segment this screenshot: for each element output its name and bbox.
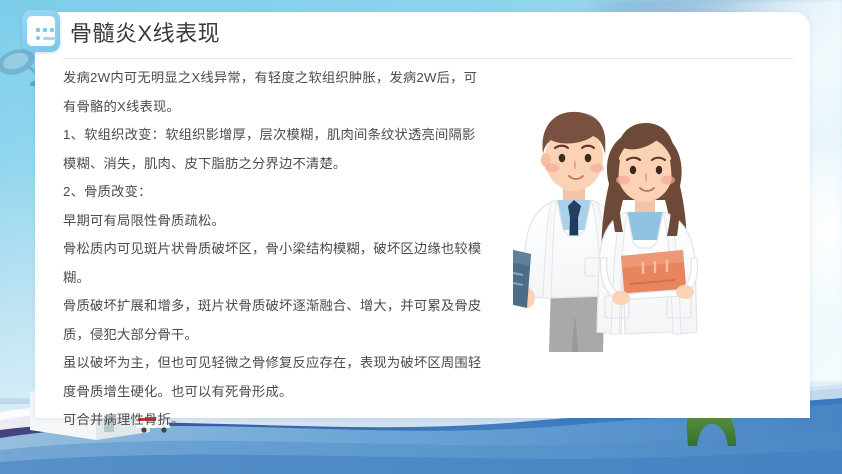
body-paragraph: 2、骨质改变： xyxy=(63,178,483,207)
card-header: 骨髓炎X线表现 xyxy=(35,12,810,56)
body-paragraph: 虽以破坏为主，但也可见轻微之骨修复反应存在，表现为破坏区周围轻度骨质增生硬化。也… xyxy=(63,349,483,406)
body-paragraph: 骨松质内可见斑片状骨质破坏区，骨小梁结构模糊，破坏区边缘也较模糊。 xyxy=(63,235,483,292)
body-paragraph: 1、软组织改变：软组织影增厚，层次模糊，肌肉间条纹状透亮间隔影模糊、消失，肌肉、… xyxy=(63,121,483,178)
content-card: 骨髓炎X线表现 发病2W内可无明显之X线异常，有轻度之软组织肿胀，发病2W后，可… xyxy=(35,12,810,418)
two-doctors-illustration xyxy=(513,100,745,352)
page-title: 骨髓炎X线表现 xyxy=(70,19,220,49)
body-paragraph: 发病2W内可无明显之X线异常，有轻度之软组织肿胀，发病2W后，可有骨骼的X线表现… xyxy=(63,64,483,121)
body-paragraph: 骨质破坏扩展和增多，斑片状骨质破坏逐渐融合、增大，并可累及骨皮质，侵犯大部分骨干… xyxy=(63,292,483,349)
presentation-slide: 骨髓炎X线表现 发病2W内可无明显之X线异常，有轻度之软组织肿胀，发病2W后，可… xyxy=(0,0,842,474)
title-divider xyxy=(63,58,793,59)
body-paragraph: 可合并病理性骨折。 xyxy=(63,406,483,435)
body-paragraph: 早期可有局限性骨质疏松。 xyxy=(63,207,483,236)
document-list-icon xyxy=(22,10,60,52)
body-text: 发病2W内可无明显之X线异常，有轻度之软组织肿胀，发病2W后，可有骨骼的X线表现… xyxy=(63,64,483,435)
female-doctor xyxy=(597,123,697,334)
